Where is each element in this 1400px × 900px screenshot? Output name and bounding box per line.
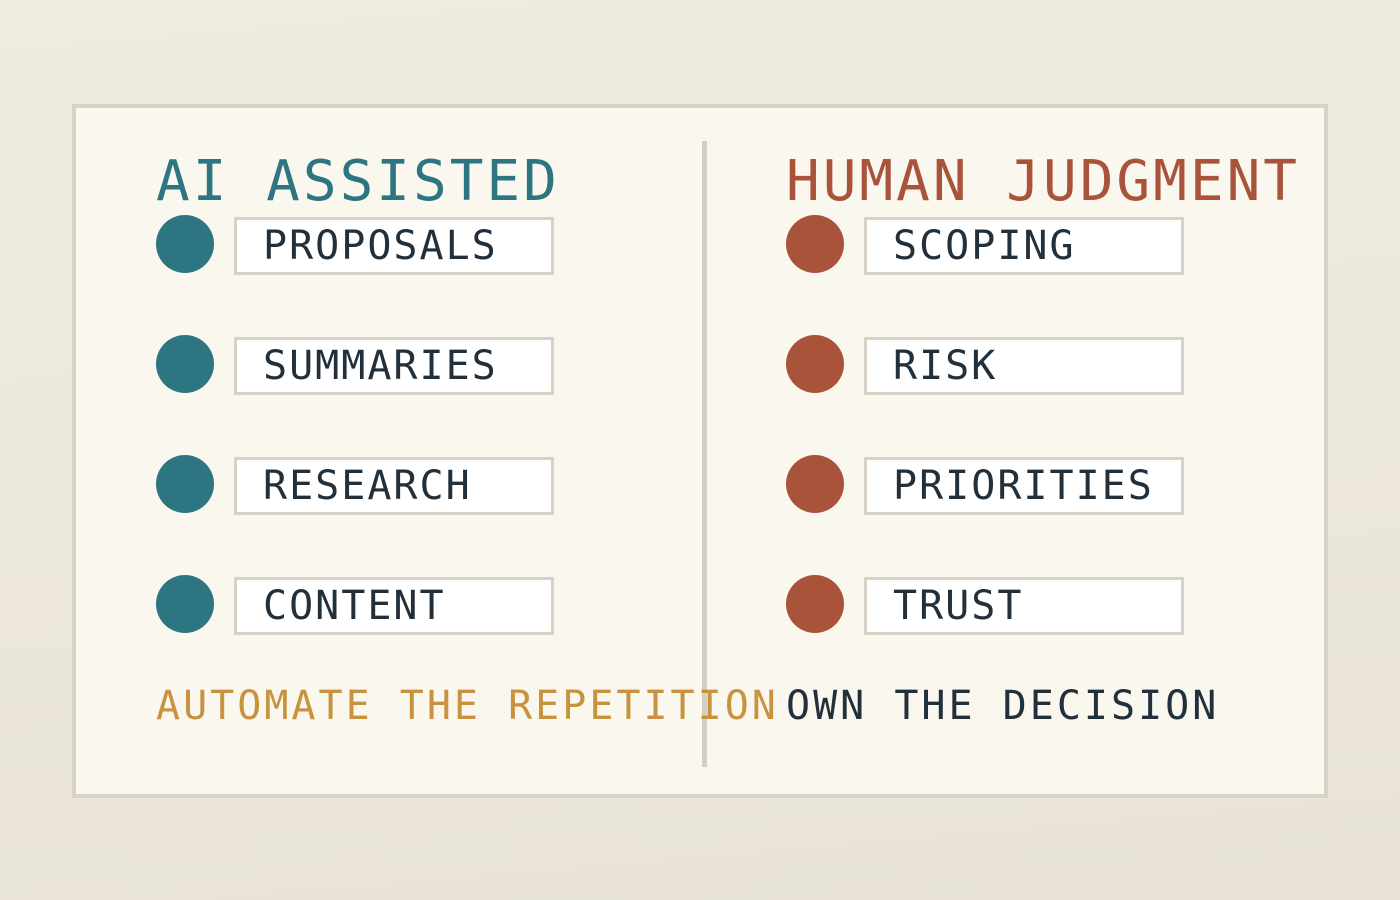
chip-label: SUMMARIES — [263, 346, 498, 386]
tagline-own-decision: OWN THE DECISION — [786, 686, 1219, 726]
chip-label: PRIORITIES — [893, 466, 1154, 506]
chip-proposals[interactable]: PROPOSALS — [234, 217, 554, 275]
chip-priorities[interactable]: PRIORITIES — [864, 457, 1184, 515]
bullet-dot-icon — [156, 335, 214, 393]
chip-trust[interactable]: TRUST — [864, 577, 1184, 635]
chip-content[interactable]: CONTENT — [234, 577, 554, 635]
bullet-dot-icon — [156, 575, 214, 633]
comparison-panel: AI ASSISTED PROPOSALS SUMMARIES RESEARCH… — [72, 104, 1328, 798]
bullet-dot-icon — [786, 575, 844, 633]
bullet-dot-icon — [156, 455, 214, 513]
chip-label: SCOPING — [893, 226, 1076, 266]
bullet-dot-icon — [786, 335, 844, 393]
chip-label: RISK — [893, 346, 997, 386]
chip-label: RESEARCH — [263, 466, 472, 506]
chip-scoping[interactable]: SCOPING — [864, 217, 1184, 275]
bullet-dot-icon — [786, 455, 844, 513]
chip-label: TRUST — [893, 586, 1023, 626]
chip-research[interactable]: RESEARCH — [234, 457, 554, 515]
bullet-dot-icon — [786, 215, 844, 273]
column-title-ai-assisted: AI ASSISTED — [156, 154, 560, 210]
chip-label: CONTENT — [263, 586, 446, 626]
chip-summaries[interactable]: SUMMARIES — [234, 337, 554, 395]
tagline-automate: AUTOMATE THE REPETITION — [156, 686, 779, 726]
column-title-human-judgment: HUMAN JUDGMENT — [786, 154, 1300, 210]
chip-label: PROPOSALS — [263, 226, 498, 266]
bullet-dot-icon — [156, 215, 214, 273]
column-divider — [702, 141, 707, 767]
chip-risk[interactable]: RISK — [864, 337, 1184, 395]
